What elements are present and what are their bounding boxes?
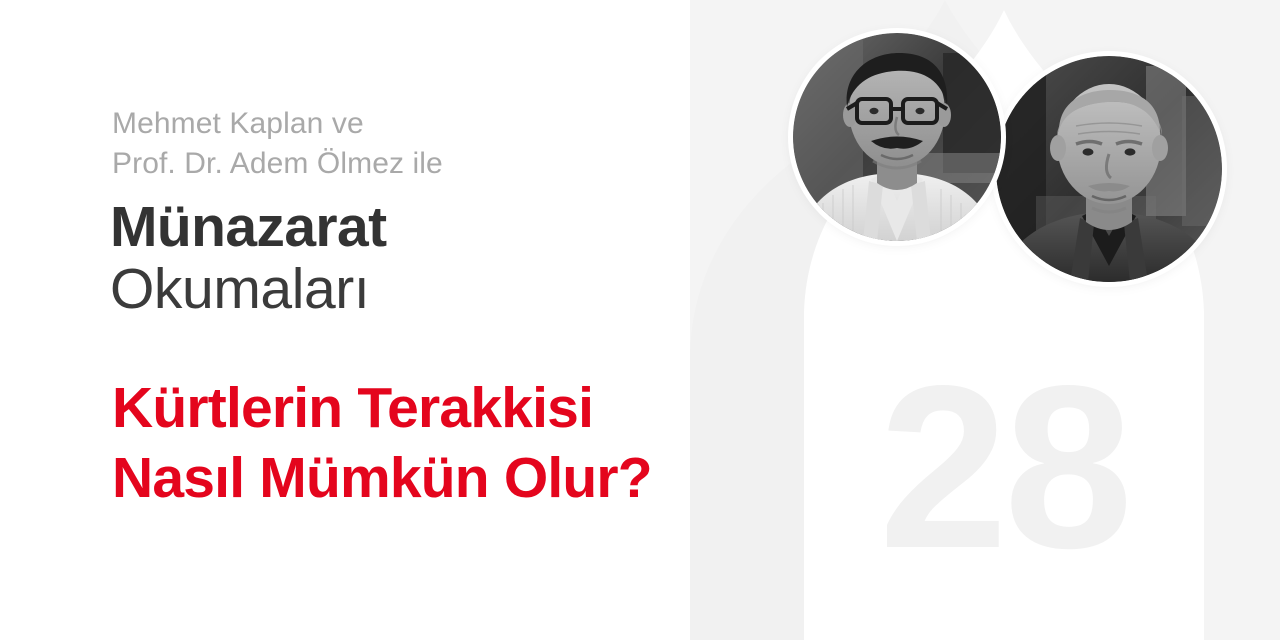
program-title-line2: Okumaları xyxy=(110,258,386,320)
episode-headline-line2: Nasıl Mümkün Olur? xyxy=(112,443,652,513)
text-column: Mehmet Kaplan ve Prof. Dr. Adem Ölmez il… xyxy=(112,0,732,640)
program-title: Münazarat Okumaları xyxy=(110,196,386,320)
episode-headline-line1: Kürtlerin Terakkisi xyxy=(112,373,652,443)
program-title-line1: Münazarat xyxy=(110,196,386,258)
presenters-label: Mehmet Kaplan ve Prof. Dr. Adem Ölmez il… xyxy=(112,104,443,184)
poster-canvas: 28 xyxy=(0,0,1280,640)
episode-number-watermark: 28 xyxy=(806,352,1202,584)
episode-headline: Kürtlerin Terakkisi Nasıl Mümkün Olur? xyxy=(112,373,652,513)
portrait-mehmet-kaplan xyxy=(793,33,1001,241)
portrait-adem-olmez xyxy=(996,56,1222,282)
